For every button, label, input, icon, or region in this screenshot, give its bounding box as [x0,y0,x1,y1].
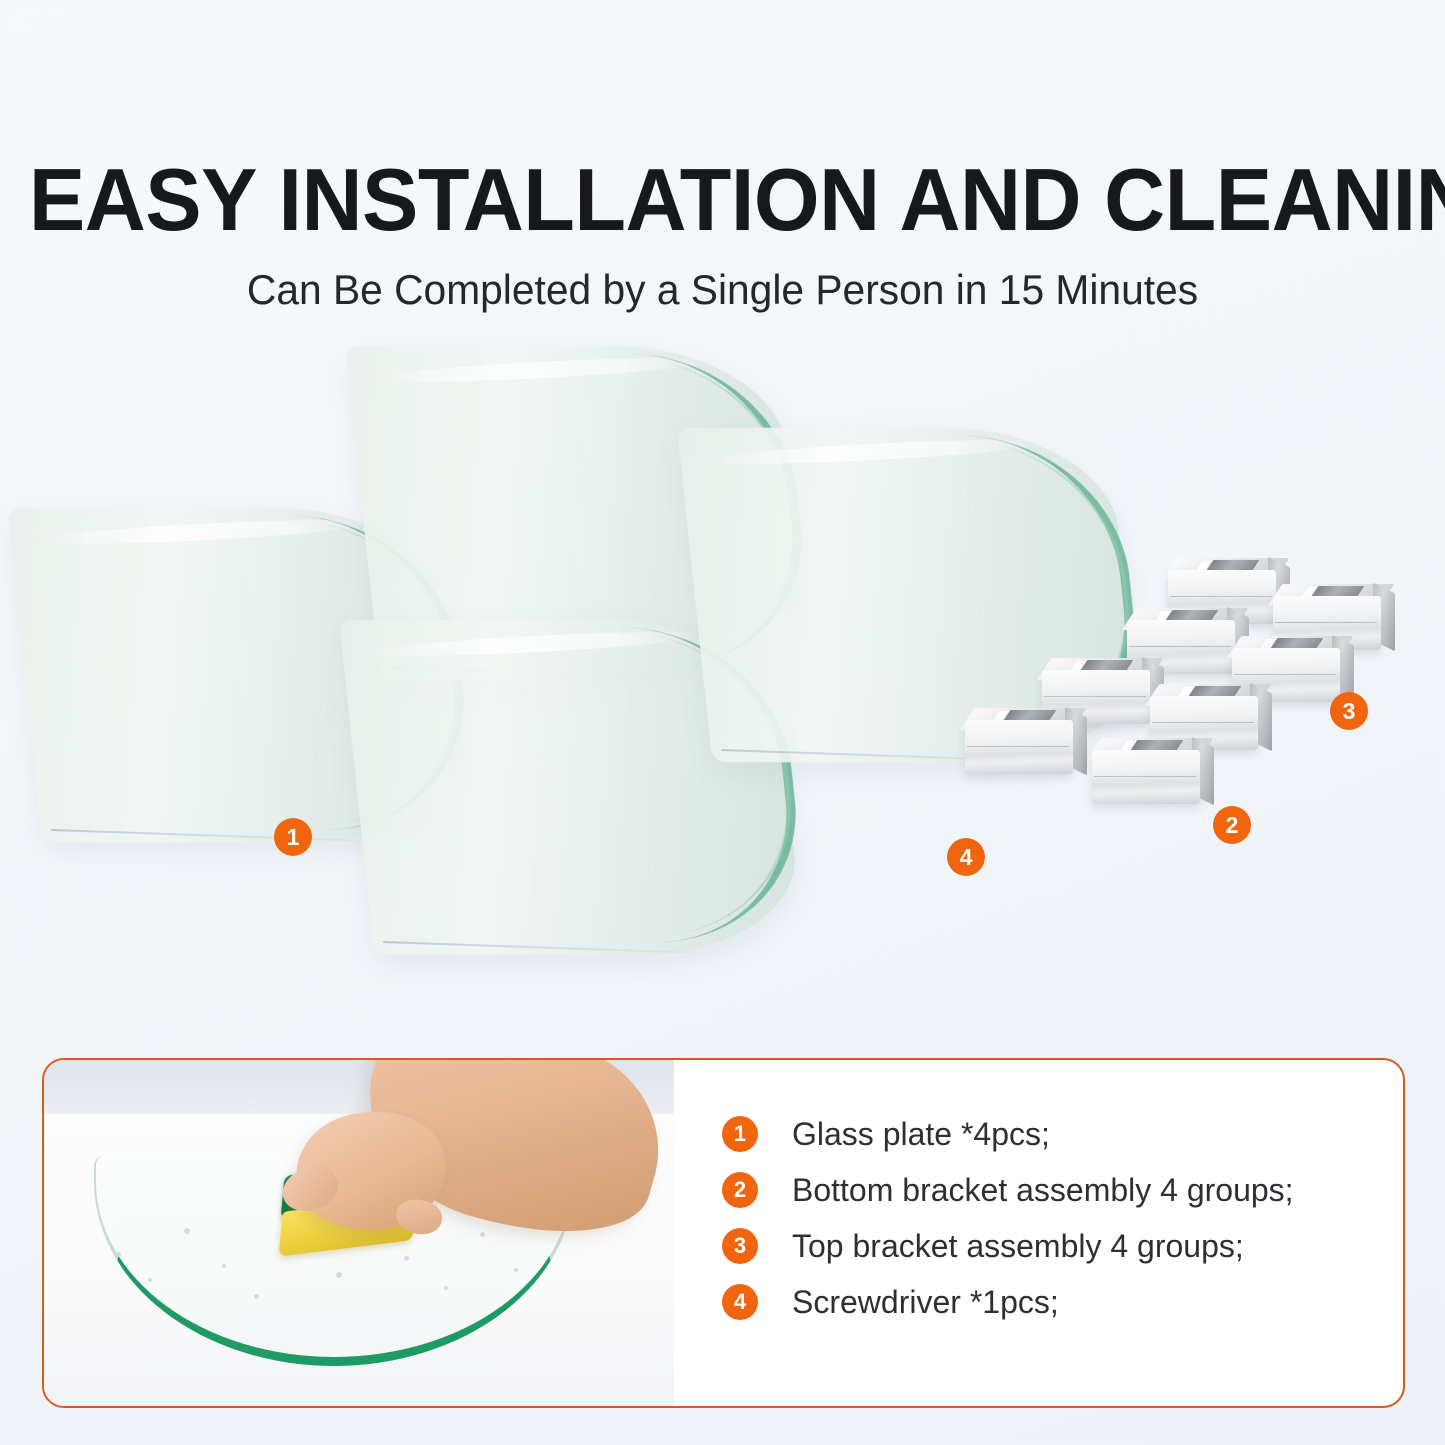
legend-label-3: Top bracket assembly 4 groups; [792,1228,1244,1265]
bracket-8 [1092,732,1212,810]
bracket-seam [1152,722,1254,723]
header-block: EASY INSTALLATION AND CLEANING Can Be Co… [0,0,1445,316]
bracket-seam [967,746,1069,747]
list-item: 1 Glass plate *4pcs; [722,1106,1403,1162]
legend-badge-2: 2 [722,1172,758,1208]
bracket-seam [1275,622,1377,623]
product-parts-diagram [0,330,1445,1030]
bracket-7 [965,702,1085,780]
bracket-seam [1094,776,1196,777]
list-item: 2 Bottom bracket assembly 4 groups; [722,1162,1403,1218]
page-title: EASY INSTALLATION AND CLEANING [29,0,1416,248]
legend-badge-4: 4 [722,1284,758,1320]
list-item: 3 Top bracket assembly 4 groups; [722,1218,1403,1274]
bracket-seam [1234,674,1336,675]
bracket-seam [1044,696,1146,697]
legend-label-4: Screwdriver *1pcs; [792,1284,1059,1321]
callout-badge-1: 1 [274,818,312,856]
list-item: 4 Screwdriver *1pcs; [722,1274,1403,1330]
callout-badge-3: 3 [1330,692,1368,730]
parts-list-panel: 1 Glass plate *4pcs; 2 Bottom bracket as… [42,1058,1405,1408]
page-subtitle: Can Be Completed by a Single Person in 1… [22,248,1424,316]
cleaning-photo [44,1060,674,1406]
callout-badge-2: 2 [1213,806,1251,844]
legend-badge-3: 3 [722,1228,758,1264]
bracket-seam [1170,596,1272,597]
bracket-front-face [965,720,1073,774]
parts-legend-list: 1 Glass plate *4pcs; 2 Bottom bracket as… [674,1060,1403,1406]
legend-badge-1: 1 [722,1116,758,1152]
legend-label-1: Glass plate *4pcs; [792,1116,1050,1153]
legend-label-2: Bottom bracket assembly 4 groups; [792,1172,1294,1209]
callout-badge-4: 4 [947,838,985,876]
bracket-seam [1129,646,1231,647]
bracket-front-face [1092,750,1200,804]
